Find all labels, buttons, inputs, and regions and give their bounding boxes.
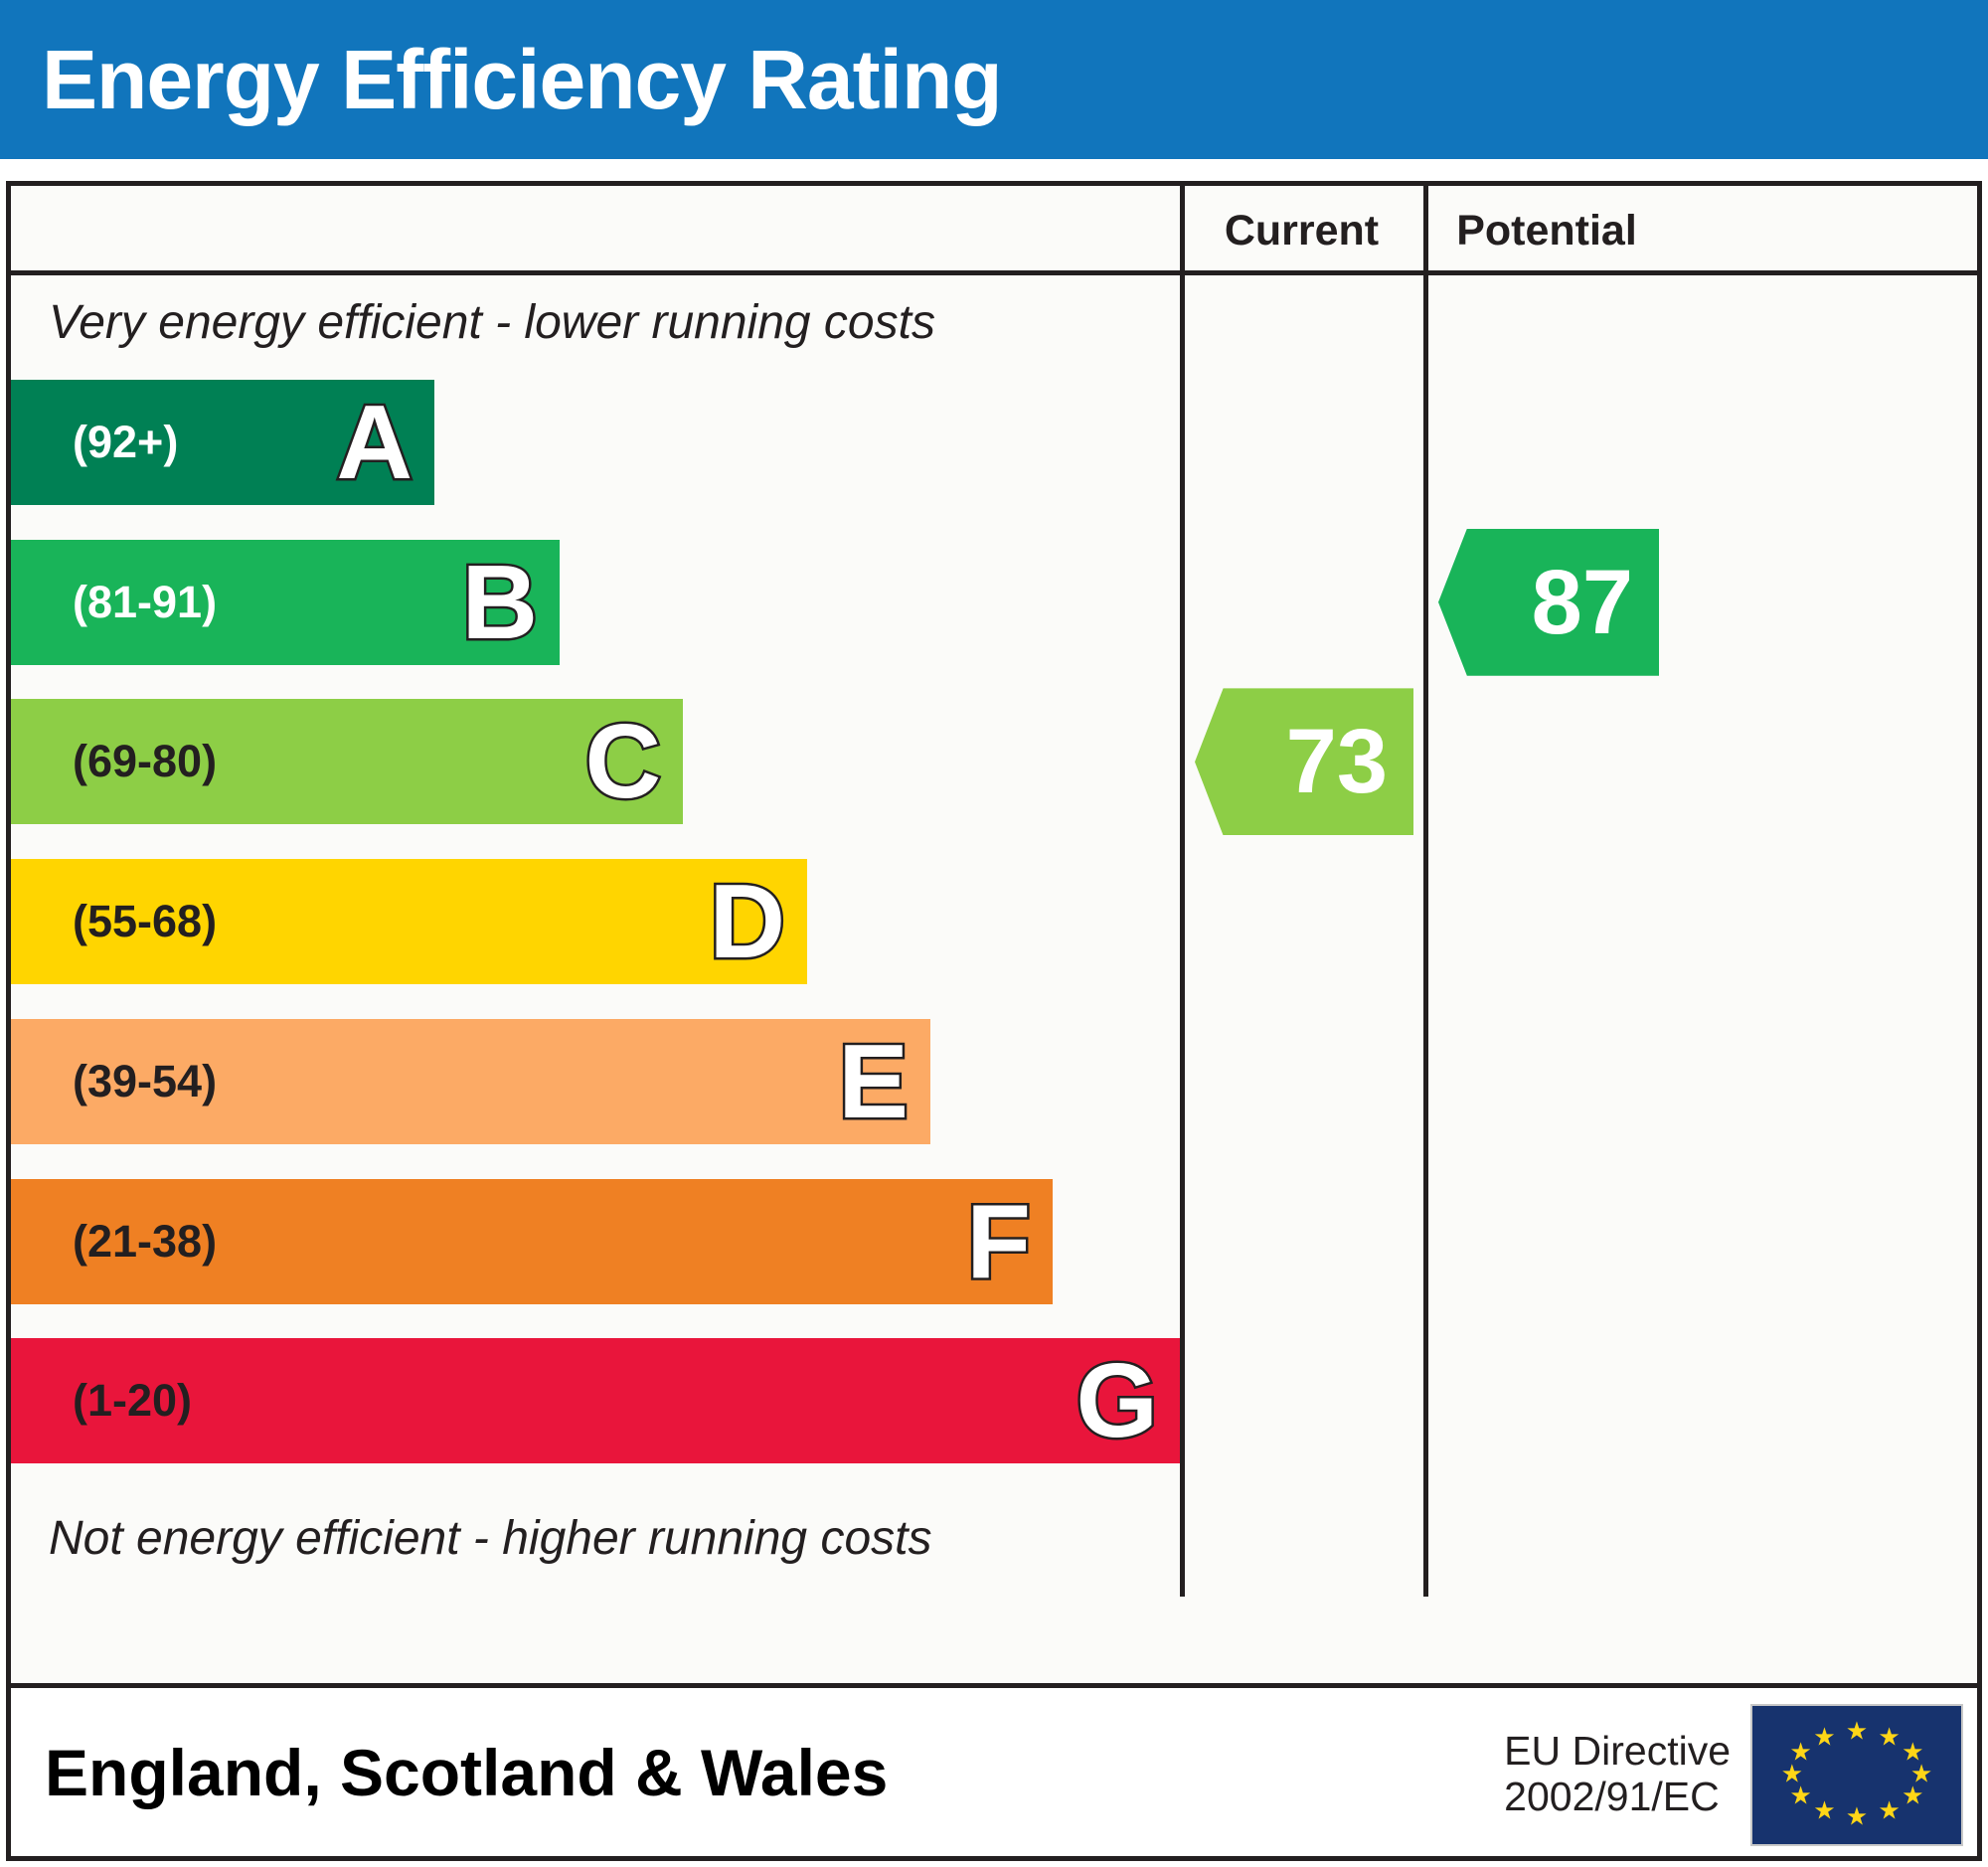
rating-arrow-potential: 87 xyxy=(1438,529,1659,676)
band-d: (55-68)D xyxy=(11,859,807,984)
energy-efficiency-certificate: Energy Efficiency Rating Current Potenti… xyxy=(0,0,1988,1867)
band-letter-f: F xyxy=(966,1189,1031,1294)
eu-star-icon: ★ xyxy=(1813,1725,1835,1750)
caption-efficient: Very energy efficient - lower running co… xyxy=(49,295,935,350)
band-range-b: (81-91) xyxy=(11,577,217,628)
eu-star-icon: ★ xyxy=(1846,1719,1868,1744)
band-a: (92+)A xyxy=(11,380,434,505)
eu-star-icon: ★ xyxy=(1789,1741,1811,1766)
band-range-g: (1-20) xyxy=(11,1375,192,1427)
column-header-potential: Potential xyxy=(1423,186,1665,275)
band-g: (1-20)G xyxy=(11,1338,1180,1463)
band-letter-c: C xyxy=(584,709,661,814)
band-range-f: (21-38) xyxy=(11,1216,217,1268)
band-c: (69-80)C xyxy=(11,699,683,824)
band-f: (21-38)F xyxy=(11,1179,1053,1304)
band-letter-g: G xyxy=(1077,1348,1158,1453)
column-header-row: Current Potential xyxy=(11,186,1977,275)
eu-star-icon: ★ xyxy=(1846,1805,1868,1830)
band-range-a: (92+) xyxy=(11,417,178,468)
eu-directive-line2: 2002/91/EC xyxy=(1504,1775,1731,1820)
page-title: Energy Efficiency Rating xyxy=(0,38,1002,121)
band-list: (92+)A(81-91)B(69-80)C(55-68)D(39-54)E(2… xyxy=(11,380,1180,1498)
eu-directive-text: EU Directive 2002/91/EC xyxy=(1504,1729,1731,1820)
eu-flag-icon: ★★★★★★★★★★★★ xyxy=(1750,1704,1963,1846)
column-header-current: Current xyxy=(1180,186,1418,275)
caption-not-efficient: Not energy efficient - higher running co… xyxy=(49,1511,931,1566)
column-divider-current xyxy=(1180,275,1185,1597)
band-range-d: (55-68) xyxy=(11,896,217,947)
footer-directive-group: EU Directive 2002/91/EC ★★★★★★★★★★★★ xyxy=(1504,1688,1963,1861)
band-letter-e: E xyxy=(838,1029,909,1134)
chart-frame: Current Potential Very energy efficient … xyxy=(6,181,1982,1688)
column-divider-potential xyxy=(1423,275,1428,1597)
band-e: (39-54)E xyxy=(11,1019,930,1144)
eu-star-icon: ★ xyxy=(1902,1783,1923,1808)
band-letter-d: D xyxy=(709,869,785,974)
chart-body: Very energy efficient - lower running co… xyxy=(11,275,1180,1597)
eu-star-icon: ★ xyxy=(1878,1725,1900,1750)
footer-bar: England, Scotland & Wales EU Directive 2… xyxy=(6,1688,1982,1861)
footer-region-label: England, Scotland & Wales xyxy=(11,1735,888,1810)
band-range-e: (39-54) xyxy=(11,1056,217,1107)
eu-directive-line1: EU Directive xyxy=(1504,1729,1731,1775)
band-b: (81-91)B xyxy=(11,540,560,665)
band-letter-b: B xyxy=(461,550,538,655)
rating-arrow-current: 73 xyxy=(1195,688,1413,835)
band-range-c: (69-80) xyxy=(11,736,217,787)
eu-star-icon: ★ xyxy=(1878,1799,1900,1824)
band-letter-a: A xyxy=(336,390,413,495)
eu-star-icon: ★ xyxy=(1813,1799,1835,1824)
title-bar: Energy Efficiency Rating xyxy=(0,0,1988,159)
